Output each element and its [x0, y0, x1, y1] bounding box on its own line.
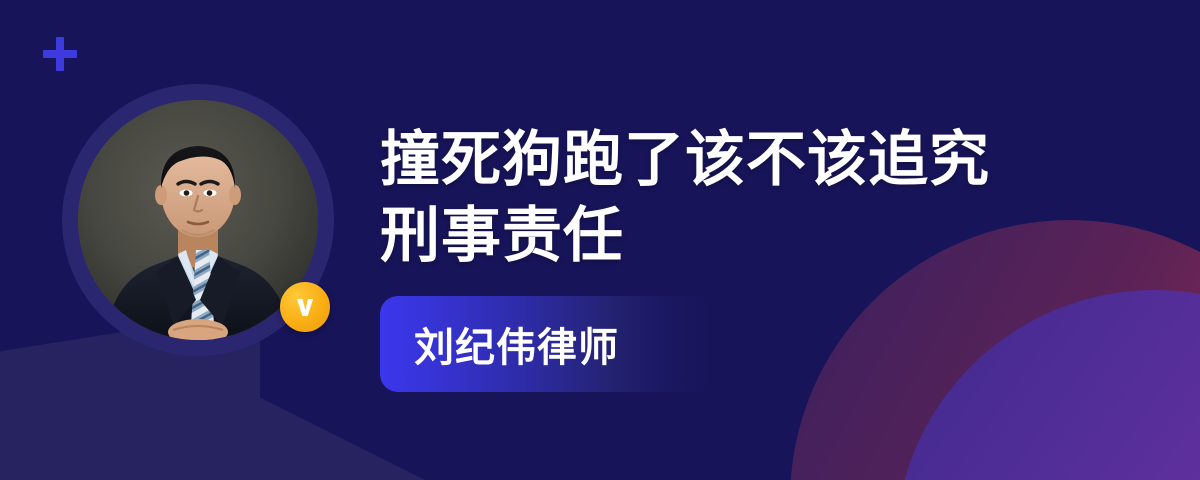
- lawyer-name-button[interactable]: 刘纪伟律师: [380, 296, 714, 392]
- page-title: 撞死狗跑了该不该追究刑事责任: [380, 122, 1050, 274]
- content-block: 撞死狗跑了该不该追究刑事责任 刘纪伟律师: [380, 122, 1100, 392]
- plus-icon: [42, 36, 78, 72]
- avatar: [62, 84, 334, 356]
- lawyer-promo-banner: 撞死狗跑了该不该追究刑事责任 刘纪伟律师: [0, 0, 1200, 480]
- verified-badge-icon: [280, 282, 330, 332]
